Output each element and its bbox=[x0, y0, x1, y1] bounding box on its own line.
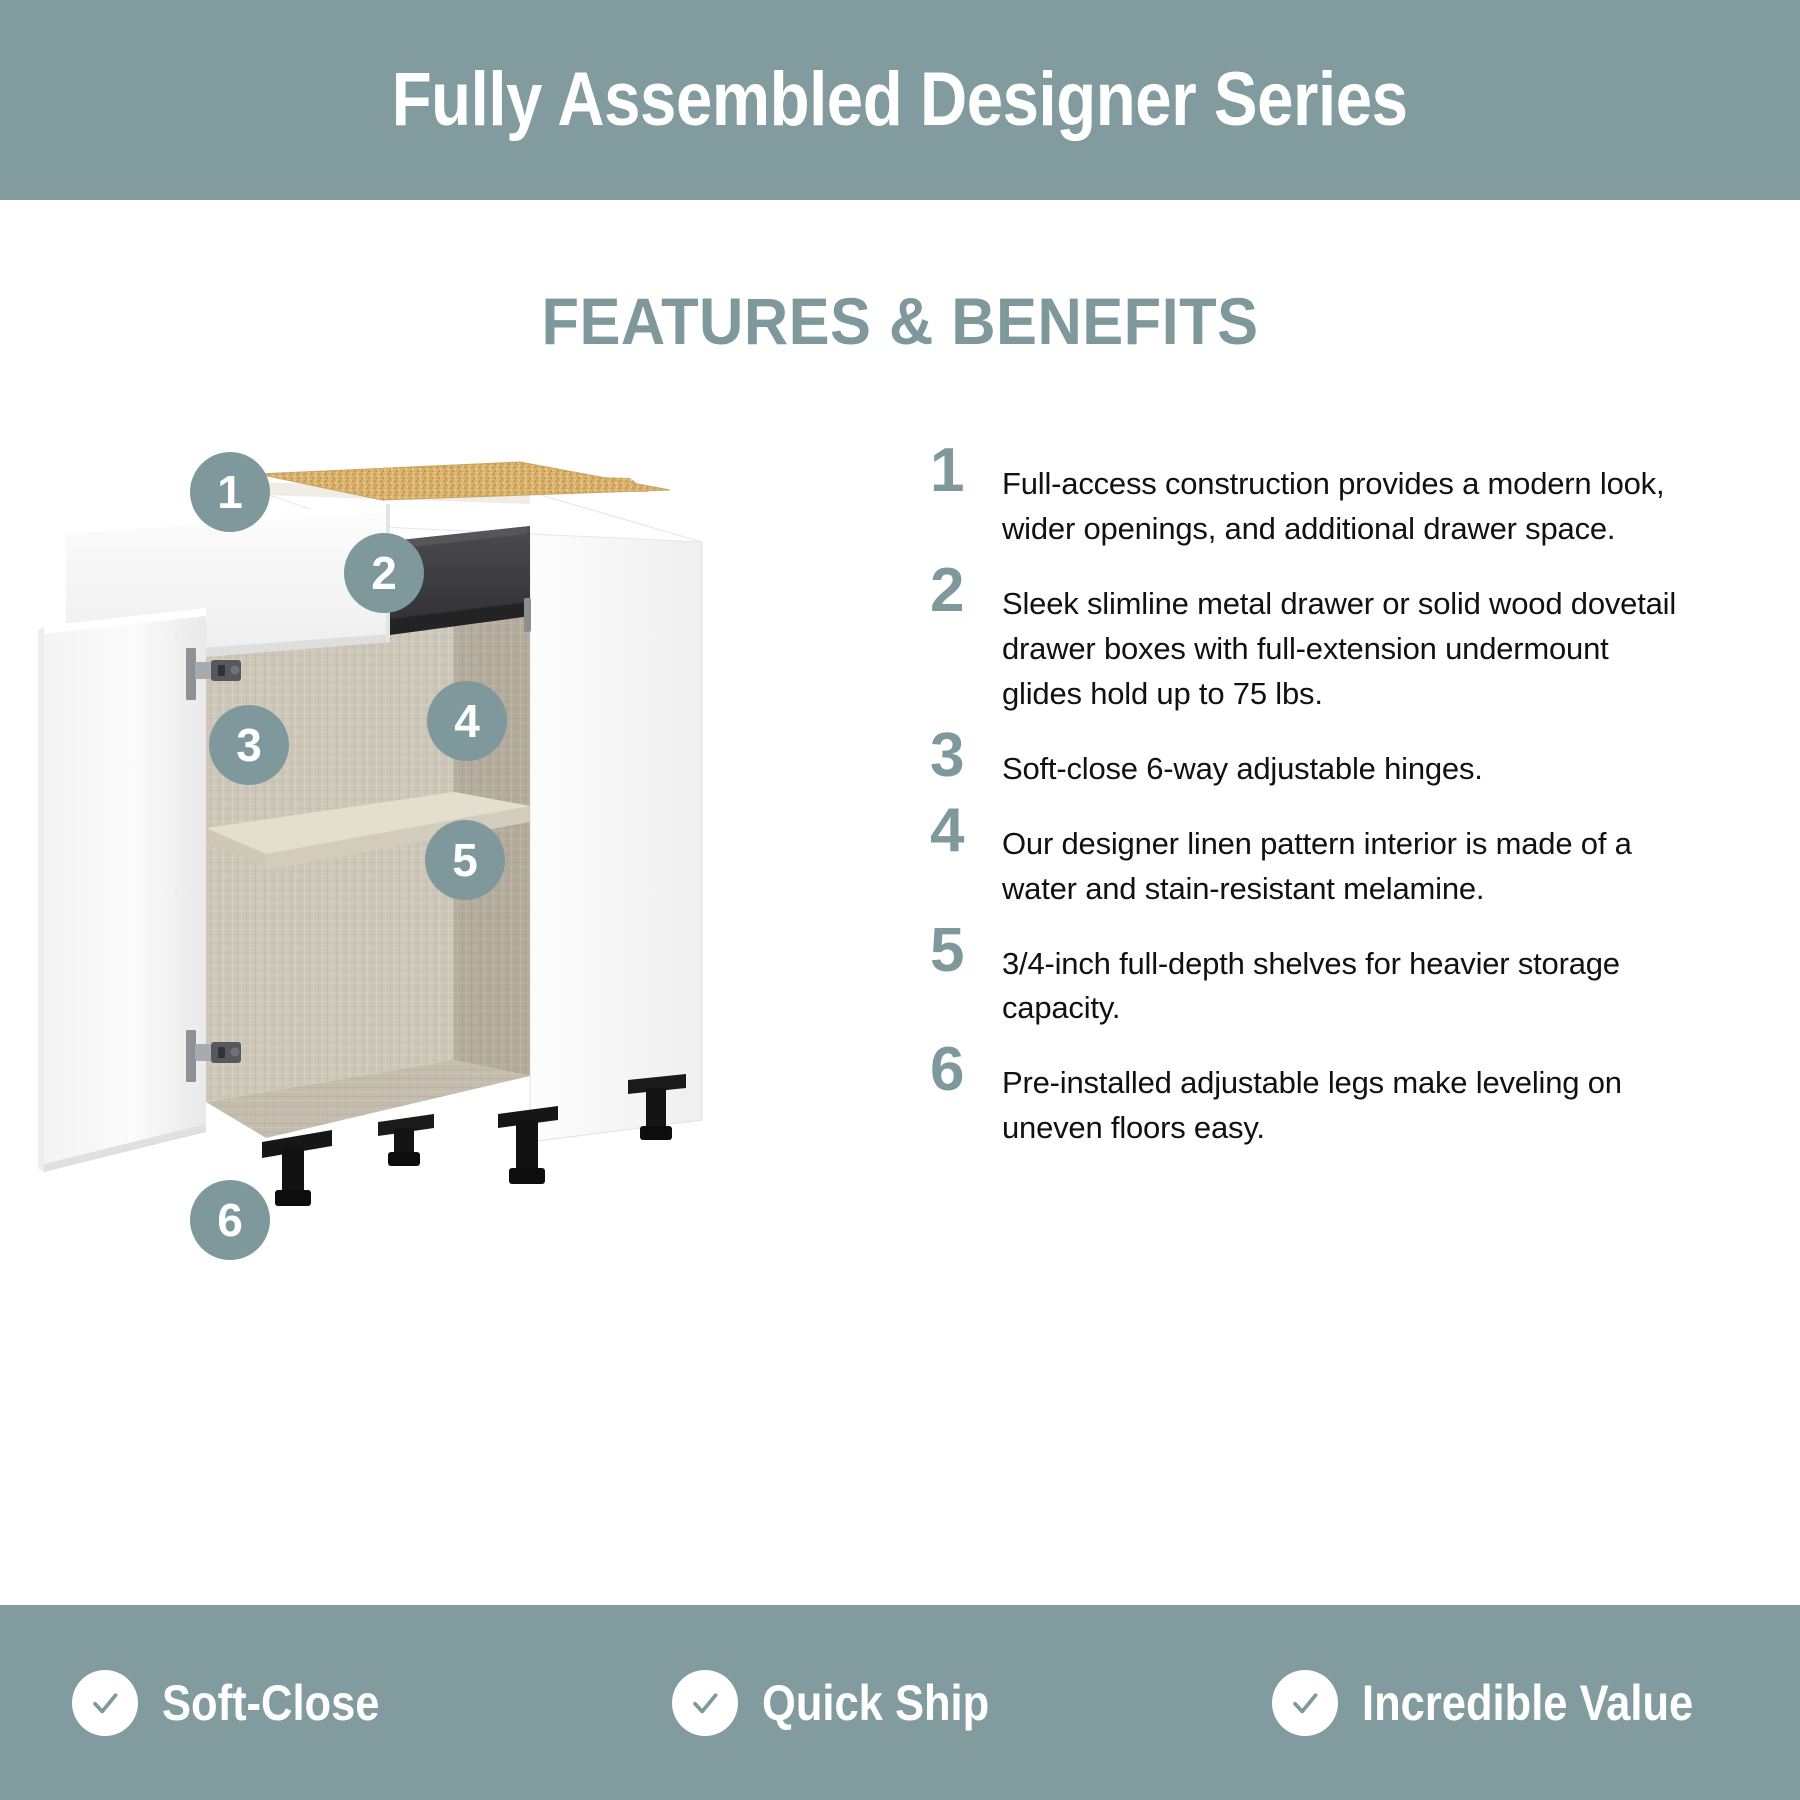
feature-item-3: 3 Soft-close 6-way adjustable hinges. bbox=[930, 733, 1690, 792]
features-list: 1 Full-access construction provides a mo… bbox=[930, 448, 1690, 1167]
feature-number-6: 6 bbox=[930, 1041, 1002, 1100]
cabinet-right-side-panel bbox=[530, 492, 702, 1142]
adjustable-leg bbox=[262, 1130, 332, 1206]
callout-3[interactable]: 3 bbox=[209, 705, 289, 785]
callout-2[interactable]: 2 bbox=[344, 533, 424, 613]
check-circle-icon bbox=[1272, 1670, 1338, 1736]
footer-band: Soft-Close Quick Ship Incredible Value bbox=[0, 1605, 1800, 1800]
adjustable-leg bbox=[378, 1114, 434, 1166]
feature-item-5: 5 3/4-inch full-depth shelves for heavie… bbox=[930, 928, 1690, 1032]
feature-number-2: 2 bbox=[930, 562, 1002, 621]
feature-number-4: 4 bbox=[930, 802, 1002, 861]
feature-number-1: 1 bbox=[930, 442, 1002, 501]
feature-number-5: 5 bbox=[930, 922, 1002, 981]
callout-1[interactable]: 1 bbox=[190, 452, 270, 532]
feature-item-4: 4 Our designer linen pattern interior is… bbox=[930, 808, 1690, 912]
footer-label-quick-ship: Quick Ship bbox=[762, 1678, 989, 1728]
section-heading: FEATURES & BENEFITS bbox=[63, 288, 1737, 354]
feature-text-3: Soft-close 6-way adjustable hinges. bbox=[1002, 733, 1690, 792]
callout-5[interactable]: 5 bbox=[425, 820, 505, 900]
callout-4[interactable]: 4 bbox=[427, 681, 507, 761]
feature-item-1: 1 Full-access construction provides a mo… bbox=[930, 448, 1690, 552]
check-circle-icon bbox=[72, 1670, 138, 1736]
feature-text-6: Pre-installed adjustable legs make level… bbox=[1002, 1047, 1690, 1151]
footer-badge-incredible-value: Incredible Value bbox=[1200, 1670, 1800, 1736]
feature-item-2: 2 Sleek slimline metal drawer or solid w… bbox=[930, 568, 1690, 717]
adjustable-leg bbox=[498, 1106, 558, 1184]
page-title: Fully Assembled Designer Series bbox=[392, 62, 1408, 138]
footer-label-soft-close: Soft-Close bbox=[162, 1678, 380, 1728]
feature-text-1: Full-access construction provides a mode… bbox=[1002, 448, 1690, 552]
feature-text-4: Our designer linen pattern interior is m… bbox=[1002, 808, 1690, 912]
feature-item-6: 6 Pre-installed adjustable legs make lev… bbox=[930, 1047, 1690, 1151]
feature-text-5: 3/4-inch full-depth shelves for heavier … bbox=[1002, 928, 1690, 1032]
callout-6[interactable]: 6 bbox=[190, 1180, 270, 1260]
footer-badge-soft-close: Soft-Close bbox=[0, 1670, 600, 1736]
footer-label-incredible-value: Incredible Value bbox=[1362, 1678, 1693, 1728]
header-band: Fully Assembled Designer Series bbox=[0, 0, 1800, 200]
feature-text-2: Sleek slimline metal drawer or solid woo… bbox=[1002, 568, 1690, 717]
cabinet-door bbox=[38, 608, 206, 1172]
feature-number-3: 3 bbox=[930, 727, 1002, 786]
check-circle-icon bbox=[672, 1670, 738, 1736]
footer-badge-quick-ship: Quick Ship bbox=[600, 1670, 1200, 1736]
